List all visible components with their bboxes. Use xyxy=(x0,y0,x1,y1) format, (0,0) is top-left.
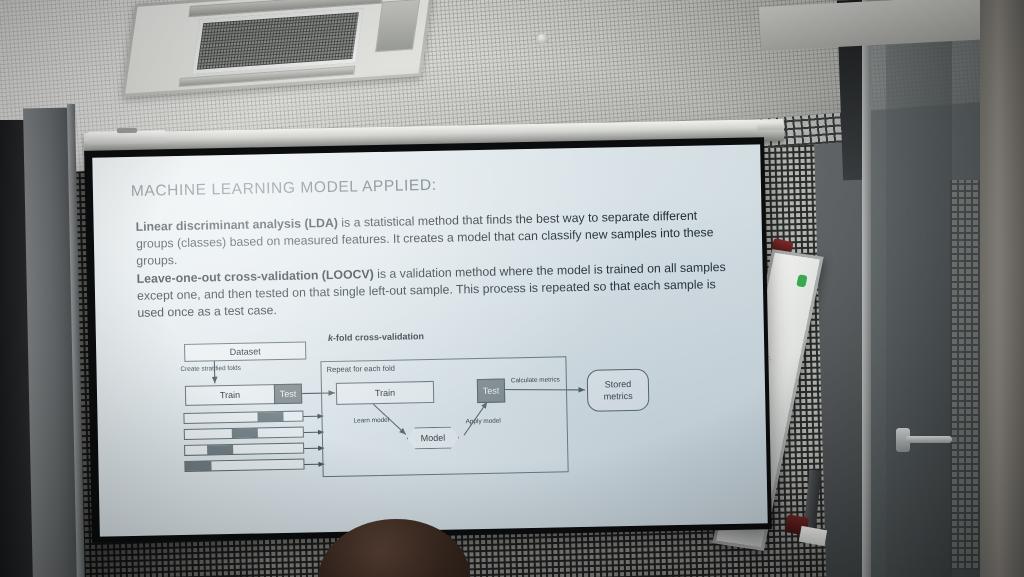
model-label: Model xyxy=(421,433,446,443)
split-test-box: Test xyxy=(274,384,302,405)
ceiling-sensor-dome-icon xyxy=(536,34,549,44)
calculate-metrics-label: Calculate metrics xyxy=(511,376,560,384)
stored-metrics-line1: Stored xyxy=(605,378,632,391)
loocv-term: Leave-one-out cross-validation (LOOCV) xyxy=(137,267,374,286)
ac-louver-right xyxy=(375,0,420,52)
projector-screen: MACHINE LEARNING MODEL APPLIED: Linear d… xyxy=(92,144,767,536)
split-test-label: Test xyxy=(280,389,297,399)
stored-metrics-box: Stored metrics xyxy=(587,369,650,412)
kfold-diagram: k-fold cross-validation xyxy=(176,326,699,501)
slide-title: MACHINE LEARNING MODEL APPLIED: xyxy=(131,177,437,201)
door-frame xyxy=(980,0,1024,577)
whiteboard-magnet-icon xyxy=(796,274,807,287)
apply-model-label: Apply model xyxy=(466,418,501,426)
dataset-box: Dataset xyxy=(184,341,306,361)
glass-mullion xyxy=(862,0,871,577)
glass-door-leaf[interactable] xyxy=(886,0,952,577)
dataset-label: Dataset xyxy=(230,346,261,357)
fold-test-segment xyxy=(232,428,258,438)
door-handle-icon[interactable] xyxy=(906,436,952,443)
fold-test-segment xyxy=(258,412,284,422)
repeat-for-each-fold-label: Repeat for each fold xyxy=(326,364,395,374)
presentation-slide: MACHINE LEARNING MODEL APPLIED: Linear d… xyxy=(92,144,767,536)
model-hexagon: Model xyxy=(407,426,459,449)
roller-cap-right xyxy=(757,122,783,131)
fold-test-segment xyxy=(207,445,233,455)
split-train-box: Train xyxy=(185,384,275,406)
room-photo-scene: ∴ MACHINE LEARNING MODEL APPLIED: Linear… xyxy=(0,0,1024,577)
split-train-label: Train xyxy=(220,390,240,400)
lda-term: Linear discriminant analysis (LDA) xyxy=(136,216,339,234)
inner-test-box: Test xyxy=(477,379,505,404)
learn-model-label: Learn model xyxy=(354,417,390,425)
slide-paragraph-loocv: Leave-one-out cross-validation (LOOCV) i… xyxy=(137,259,728,322)
roller-knob-icon[interactable] xyxy=(117,128,137,133)
inner-train-box: Train xyxy=(336,381,434,405)
ac-grille xyxy=(192,8,364,73)
inner-test-label: Test xyxy=(483,386,500,396)
fold-test-segment xyxy=(185,461,211,471)
slide-body: Linear discriminant analysis (LDA) is a … xyxy=(135,207,727,322)
stored-metrics-line2: metrics xyxy=(604,390,633,403)
create-folds-label: Create stratified folds xyxy=(180,365,241,373)
inner-train-label: Train xyxy=(375,388,395,398)
